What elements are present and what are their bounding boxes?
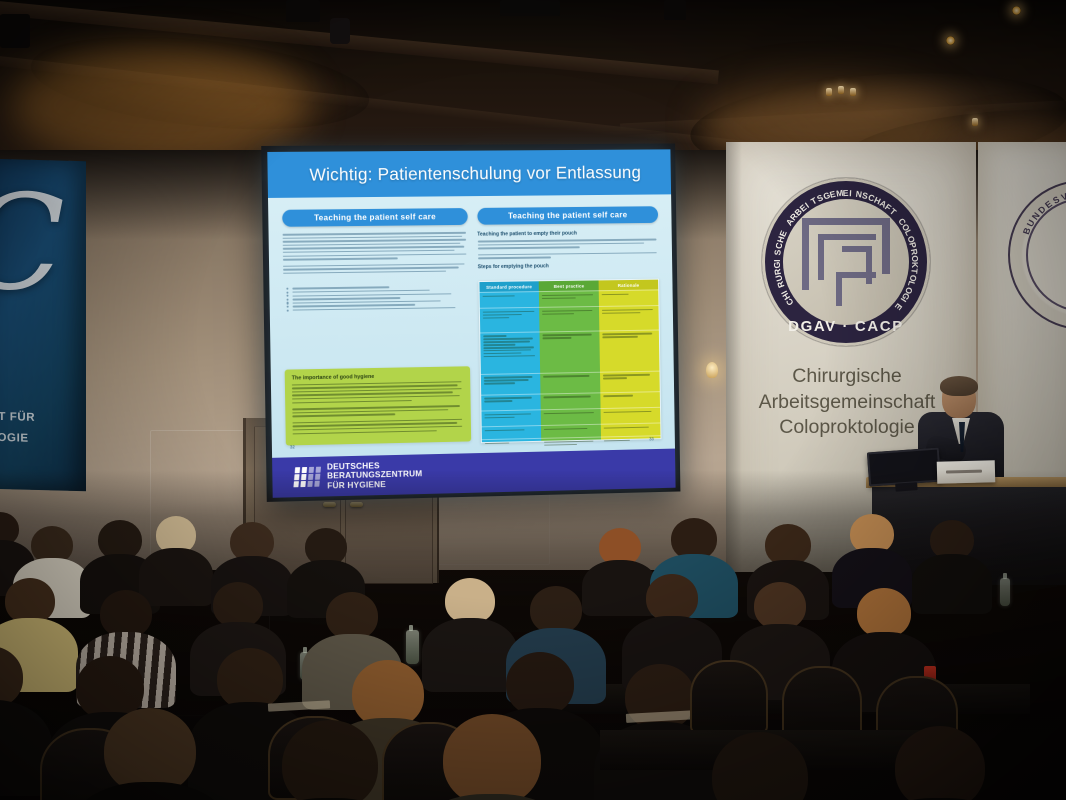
slide-paragraph	[283, 263, 468, 274]
slide-paragraph	[477, 239, 658, 250]
slide-subheading	[283, 277, 468, 285]
banner-left-line-2: CHAFT FÜR	[0, 410, 35, 424]
slide-subheading-2: Steps for emptying the pouch	[478, 262, 659, 270]
slide-pill-right: Teaching the patient self care	[477, 206, 658, 225]
water-bottle	[406, 630, 419, 664]
banner-left-monogram: C	[0, 176, 57, 310]
table-cell	[539, 306, 599, 331]
highlight-box-heading: The importance of good hygiene	[292, 372, 463, 381]
slide-bullet-list	[283, 286, 468, 312]
ceiling-spotlight	[946, 36, 955, 45]
table-cell	[480, 373, 540, 395]
wall-sconce-light	[706, 362, 718, 378]
slide-column-left: Teaching the patient self care	[282, 208, 471, 451]
highlight-box-text	[292, 405, 463, 417]
slide-highlight-box: The importance of good hygiene	[285, 366, 471, 446]
ceiling-rig	[500, 0, 560, 16]
conference-hall-photo: C E CHAFT FÜR KTOLOGIE CHIRURGISCHE ARBE…	[0, 0, 1066, 800]
highlight-box-text	[292, 419, 463, 435]
banner-left: C E CHAFT FÜR KTOLOGIE	[0, 159, 86, 491]
table-cell	[600, 370, 660, 392]
slide-page-number-left: 32	[290, 444, 295, 449]
table-cell	[481, 438, 541, 452]
table-cell	[481, 409, 541, 426]
table-column-best-practice: Best practice	[539, 280, 601, 440]
table-cell	[541, 392, 601, 409]
ceiling-lamp	[826, 88, 832, 96]
slide-body: Teaching the patient self care	[268, 194, 675, 457]
table-cell	[600, 391, 660, 408]
spotlight-fixture	[330, 18, 350, 44]
banquet-chair[interactable]	[690, 660, 768, 734]
seal-bottom-text: DGAV · CACP	[762, 318, 930, 335]
association-seal-logo-secondary: BUNDESVERBAND D·CO	[1008, 180, 1066, 330]
slide-table: Standard procedure	[478, 279, 662, 444]
table-cell	[540, 372, 600, 394]
table-cell	[481, 393, 541, 410]
ceiling-rig	[286, 0, 320, 22]
table-cell	[600, 329, 660, 371]
seal-ring-text-secondary: BUNDESVERBAND D·CO	[1010, 182, 1066, 328]
slide-paragraph	[478, 252, 659, 259]
ceiling-spotlight	[1012, 6, 1021, 15]
ceiling-lamp	[850, 88, 856, 96]
table-column-rationale: Rationale	[599, 280, 661, 440]
table-cell	[599, 305, 659, 330]
table-cell	[480, 331, 541, 374]
water-bottle	[1000, 578, 1010, 606]
screen-frame: Wichtig: Patientenschulung vor Entlassun…	[261, 143, 680, 501]
slide-paragraph	[283, 232, 468, 261]
projection-screen: Wichtig: Patientenschulung vor Entlassun…	[261, 143, 680, 501]
highlight-box-text	[292, 381, 463, 404]
association-seal-logo: CHIRURGISCHE ARBEITSGEMEINSCHAFT COLOPRO…	[762, 178, 930, 346]
slide-title: Wichtig: Patientenschulung vor Entlassun…	[267, 149, 671, 198]
table-cell	[599, 290, 659, 307]
ceiling-rig	[0, 14, 30, 48]
table-cell	[479, 291, 539, 308]
slide-page-number-right: 33	[649, 436, 654, 441]
table-cell	[540, 330, 600, 372]
ceiling-lamp	[838, 86, 844, 94]
table-cell	[541, 437, 601, 451]
ceiling-rig	[664, 0, 686, 20]
presentation-slide: Wichtig: Patientenschulung vor Entlassun…	[267, 149, 675, 497]
ceiling-lamp	[972, 118, 978, 126]
slide-pill-left: Teaching the patient self care	[282, 208, 467, 227]
speaker-hair	[940, 376, 978, 396]
table-cell	[539, 290, 599, 307]
audience-area	[0, 470, 1066, 800]
table-cell	[541, 408, 601, 425]
slide-subheading-1: Teaching the patient to empty their pouc…	[477, 230, 658, 238]
table-column-standard-procedure: Standard procedure	[479, 281, 542, 442]
table-cell	[601, 407, 661, 424]
banner-left-line-3: KTOLOGIE	[0, 431, 29, 445]
slide-column-right: Teaching the patient self care Teaching …	[477, 206, 662, 447]
table-cell	[479, 307, 539, 332]
